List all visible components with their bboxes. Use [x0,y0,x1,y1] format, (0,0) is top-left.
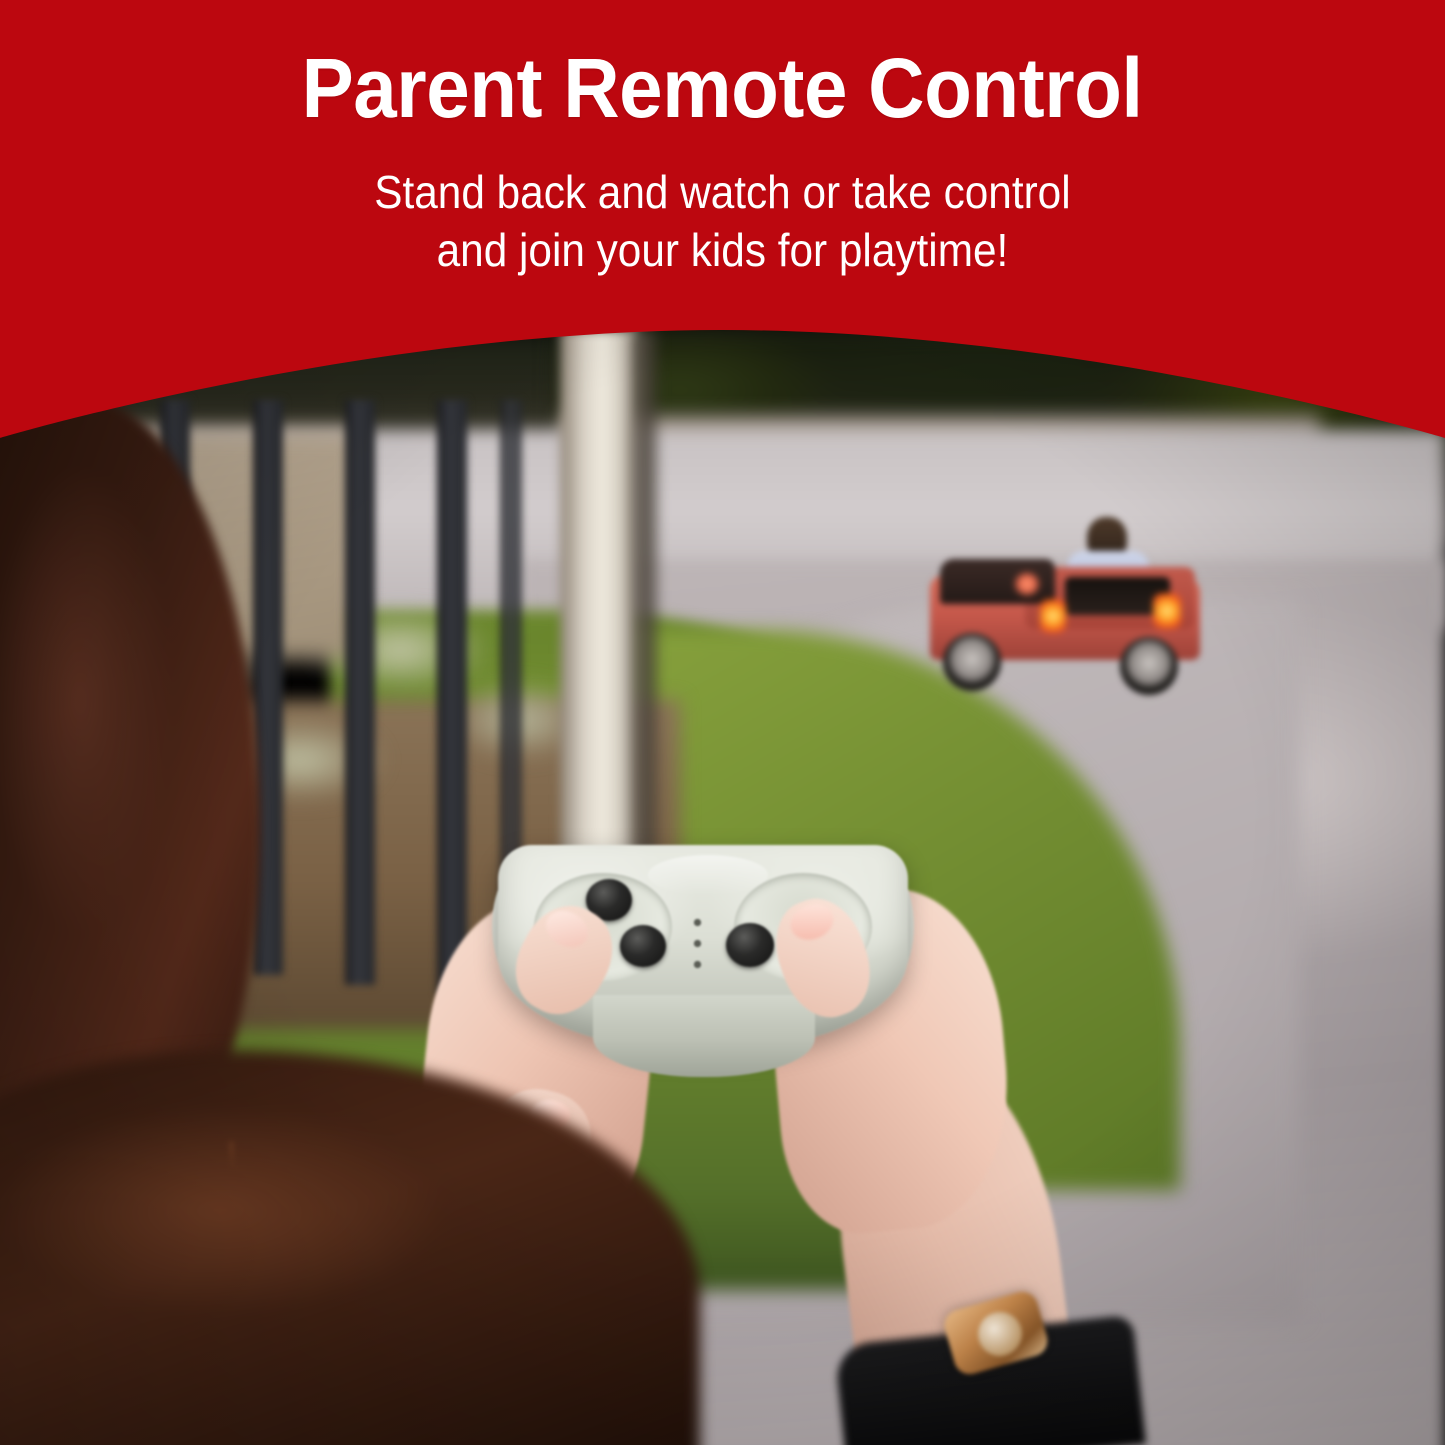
promo-banner-image: Parent Remote Control Stand back and wat… [0,0,1445,1445]
product-lifestyle-photo [0,0,1445,1445]
photo-vignette [0,0,1445,1445]
